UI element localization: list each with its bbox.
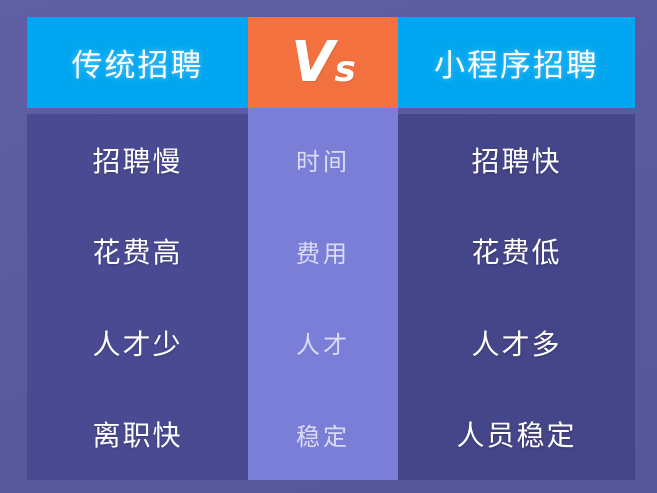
header-cell-traditional: 传统招聘 <box>27 17 248 108</box>
cell-criterion-time: 时间 <box>296 142 350 177</box>
cell-traditional-time: 招聘慢 <box>92 140 182 180</box>
table-row: 人才 <box>248 297 398 389</box>
column-traditional: 招聘慢 花费高 人才少 离职快 <box>27 114 248 480</box>
cell-criterion-cost: 费用 <box>296 234 350 269</box>
table-row: 时间 <box>248 114 398 206</box>
vs-badge-text: V s <box>291 35 355 91</box>
cell-criterion-talent: 人才 <box>296 325 350 360</box>
cell-miniprogram-time: 招聘快 <box>471 140 561 180</box>
table-header-row: 传统招聘 V s 小程序招聘 <box>27 17 635 108</box>
table-row: 费用 <box>248 206 398 298</box>
column-criteria: 时间 费用 人才 稳定 <box>248 114 398 480</box>
header-label-miniprogram: 小程序招聘 <box>434 40 599 85</box>
table-row: 人员稳定 <box>398 389 635 481</box>
cell-traditional-cost: 花费高 <box>92 231 182 271</box>
cell-miniprogram-talent: 人才多 <box>471 323 561 363</box>
cell-miniprogram-stability: 人员稳定 <box>456 414 576 454</box>
table-row: 招聘慢 <box>27 114 248 206</box>
table-row: 花费低 <box>398 206 635 298</box>
table-row: 人才少 <box>27 297 248 389</box>
header-cell-miniprogram: 小程序招聘 <box>398 17 635 108</box>
table-body: 招聘慢 花费高 人才少 离职快 时间 费用 <box>27 114 635 480</box>
vs-letter-s: s <box>334 52 354 88</box>
vs-letter-v: V <box>291 35 333 91</box>
table-row: 花费高 <box>27 206 248 298</box>
cell-traditional-talent: 人才少 <box>92 323 182 363</box>
column-miniprogram: 招聘快 花费低 人才多 人员稳定 <box>398 114 635 480</box>
vs-badge: V s <box>248 17 398 108</box>
table-row: 离职快 <box>27 389 248 481</box>
header-label-traditional: 传统招聘 <box>72 40 204 85</box>
table-row: 人才多 <box>398 297 635 389</box>
comparison-table: 传统招聘 V s 小程序招聘 招聘慢 <box>27 17 635 480</box>
table-row: 招聘快 <box>398 114 635 206</box>
table-row: 稳定 <box>248 389 398 481</box>
cell-miniprogram-cost: 花费低 <box>471 231 561 271</box>
comparison-infographic: 传统招聘 V s 小程序招聘 招聘慢 <box>0 0 657 493</box>
cell-traditional-stability: 离职快 <box>92 414 182 454</box>
cell-criterion-stability: 稳定 <box>296 417 350 452</box>
